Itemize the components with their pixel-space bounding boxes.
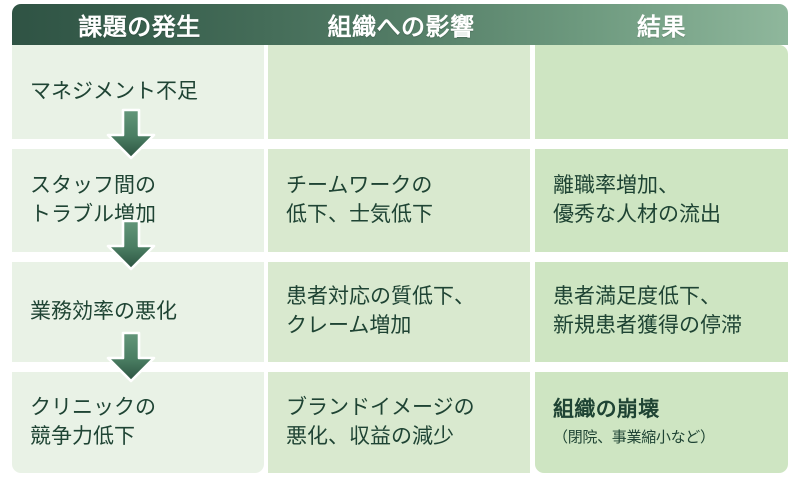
cell-cause-2: スタッフ間の トラブル増加 <box>12 149 264 252</box>
cell-text: スタッフ間の トラブル増加 <box>30 172 246 230</box>
cell-cause-1: マネジメント不足 <box>12 45 264 139</box>
cell-cause-4: クリニックの 競争力低下 <box>12 372 264 473</box>
cell-impact-3: 患者対応の質低下、 クレーム増加 <box>268 262 530 362</box>
header-column-cause: 課題の発生 <box>12 4 267 45</box>
cell-result-4: 組織の崩壊 （閉院、事業縮小など） <box>535 372 788 473</box>
cell-text: 患者対応の質低下、 クレーム増加 <box>286 283 512 341</box>
cell-text: ブランドイメージの 悪化、収益の減少 <box>286 394 512 452</box>
cell-text: チームワークの 低下、士気低下 <box>286 172 512 230</box>
cell-cause-3: 業務効率の悪化 <box>12 262 264 362</box>
cell-text: 患者満足度低下、 新規患者獲得の停滞 <box>553 283 770 341</box>
cell-text: クリニックの 競争力低下 <box>30 394 246 452</box>
cell-impact-4: ブランドイメージの 悪化、収益の減少 <box>268 372 530 473</box>
cell-text-sub: （閉院、事業縮小など） <box>553 428 770 449</box>
cell-impact-1 <box>268 45 530 139</box>
header-column-result: 結果 <box>535 4 788 45</box>
header-bar: 課題の発生 組織への影響 結果 <box>12 4 788 45</box>
cell-impact-2: チームワークの 低下、士気低下 <box>268 149 530 252</box>
cell-text-strong: 組織の崩壊 <box>553 396 770 425</box>
cell-text: 離職率増加、 優秀な人材の流出 <box>553 172 770 230</box>
cell-result-1 <box>535 45 788 139</box>
cell-text: マネジメント不足 <box>30 78 246 107</box>
cell-result-3: 患者満足度低下、 新規患者獲得の停滞 <box>535 262 788 362</box>
header-column-impact: 組織への影響 <box>267 4 535 45</box>
cell-result-2: 離職率増加、 優秀な人材の流出 <box>535 149 788 252</box>
flow-diagram: 課題の発生 組織への影響 結果 マネジメント不足 スタッフ間の トラブル増加 チ… <box>0 0 800 478</box>
cell-text: 業務効率の悪化 <box>30 298 246 327</box>
